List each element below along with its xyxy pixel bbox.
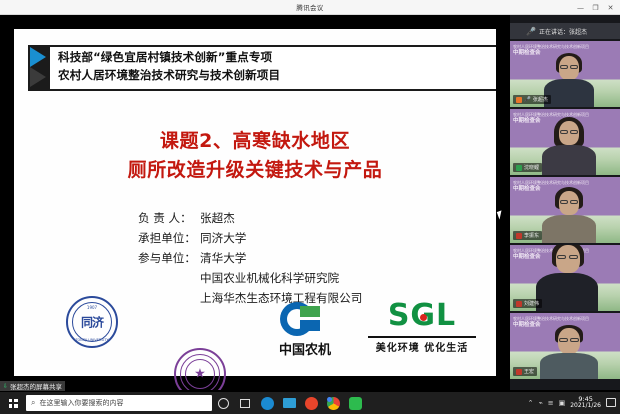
taskbar-clock[interactable]: 9:45 2021/1/26	[570, 396, 601, 410]
info-row: 负 责 人：张超杰	[138, 209, 362, 229]
glasses-icon	[570, 338, 579, 342]
seal-english: TONGJI UNIVERSITY	[75, 338, 108, 342]
chevron-blue-icon	[30, 47, 46, 67]
taskbar-search-input[interactable]: ⌕ 在这里输入你要搜索的内容	[26, 395, 212, 411]
glasses-icon	[570, 65, 578, 69]
info-value: 中国农业机械化科学研究院	[200, 271, 339, 285]
mail-button[interactable]	[278, 392, 300, 414]
shared-screen-stage[interactable]: 科技部“绿色宜居村镇技术创新”重点专项 农村人居环境整治技术研究与技术创新项目 …	[0, 15, 510, 390]
seal-mark: 同济	[81, 314, 103, 331]
header-line-2: 农村人居环境整治技术研究与技术创新项目	[58, 67, 478, 85]
start-button[interactable]	[0, 392, 26, 414]
vb-sub: 中期检查会	[513, 50, 541, 56]
glasses-icon	[570, 130, 578, 134]
glasses-icon	[570, 200, 578, 204]
notifications-icon[interactable]	[606, 398, 616, 407]
presentation-slide: 科技部“绿色宜居村镇技术创新”重点专项 农村人居环境整治技术研究与技术创新项目 …	[14, 29, 496, 376]
slide-title: 课题2、高寒缺水地区 厕所改造升级关键技术与产品	[14, 127, 496, 184]
tray-volume-icon[interactable]: ≡	[548, 399, 554, 407]
participant-name-bar: 王宏	[513, 367, 537, 376]
opera-button[interactable]	[300, 392, 322, 414]
seal-year: 1907	[87, 305, 97, 310]
vb-sub: 中期检查会	[513, 118, 541, 124]
close-button[interactable]: ✕	[603, 0, 618, 15]
avatar-body	[540, 353, 598, 379]
mic-muted-icon	[516, 301, 522, 307]
participant-name: 张超杰	[533, 96, 548, 103]
host-badge-icon	[516, 97, 522, 103]
glasses-icon	[560, 200, 568, 204]
nj-bar-green	[300, 306, 320, 317]
participant-name: 李振东	[524, 232, 539, 239]
slide-header: 科技部“绿色宜居村镇技术创新”重点专项 农村人居环境整治技术研究与技术创新项目	[14, 45, 496, 91]
participant-tile[interactable]: 农村人居环境整治技术研究与技术创新项目 中期检查会 刘建伟	[510, 245, 620, 311]
chrome-icon	[327, 397, 340, 410]
info-value: 同济大学	[200, 231, 246, 245]
sgl-red-dot-icon	[420, 314, 427, 321]
windows-taskbar[interactable]: ⌕ 在这里输入你要搜索的内容 ⌃ ⌁ ≡ ▣ 9:45 2021/1/26	[0, 392, 620, 414]
participant-name-bar: 🎤 张超杰	[513, 95, 551, 104]
participants-rail[interactable]: 🎤 正在讲话：张超杰 农村人居环境整治技术研究与技术创新项目 中期检查会 🎤 张…	[510, 15, 620, 390]
participant-tile[interactable]: 农村人居环境整治技术研究与技术创新项目 中期检查会 沈晓鲤	[510, 109, 620, 175]
cortana-icon	[218, 398, 229, 409]
slide-title-line-1: 课题2、高寒缺水地区	[14, 127, 496, 156]
clock-date: 2021/1/26	[570, 403, 601, 410]
screen-share-label: 张超杰的屏幕共享	[10, 381, 62, 391]
active-speaker-name: 正在讲话：张超杰	[539, 27, 587, 36]
chevron-dark-icon	[30, 67, 46, 87]
header-text: 科技部“绿色宜居村镇技术创新”重点专项 农村人居环境整治技术研究与技术创新项目	[58, 49, 478, 84]
participant-tile[interactable]: 农村人居环境整治技术研究与技术创新项目 中期检查会 🎤 张超杰	[510, 41, 620, 107]
glasses-icon	[560, 130, 568, 134]
search-placeholder: 在这里输入你要搜索的内容	[39, 398, 123, 408]
task-view-button[interactable]	[234, 392, 256, 414]
mail-icon	[283, 398, 296, 408]
window-title: 腾讯会议	[296, 2, 323, 12]
tray-chevron-icon[interactable]: ⌃	[528, 399, 534, 407]
info-row: 参与单位：清华大学	[138, 249, 362, 269]
participant-name-bar: 沈晓鲤	[513, 163, 542, 172]
avatar-body	[542, 215, 596, 243]
participant-tile[interactable]: 农村人居环境整治技术研究与技术创新项目 中期检查会 李振东	[510, 177, 620, 243]
slide-info-block: 负 责 人：张超杰 承担单位：同济大学 参与单位：清华大学 中国农业机械化科学研…	[138, 209, 362, 309]
wechat-icon	[349, 397, 362, 410]
tray-network-icon[interactable]: ⌁	[539, 399, 543, 407]
nj-emblem	[280, 302, 326, 336]
info-label: 负 责 人：	[138, 209, 200, 229]
sgl-logo-icon: SGL 美化环境 优化生活	[362, 300, 482, 358]
seal-star-icon: ★	[194, 367, 206, 382]
glasses-icon	[569, 255, 578, 259]
active-speaker-banner: 🎤 正在讲话：张超杰	[510, 23, 620, 39]
tongji-university-seal-icon: 1907 同济 TONGJI UNIVERSITY	[66, 296, 118, 348]
vb-sub: 中期检查会	[513, 322, 541, 328]
slide-title-line-2: 厕所改造升级关键技术与产品	[14, 156, 496, 185]
minimize-button[interactable]: —	[573, 0, 588, 15]
info-row: 承担单位：同济大学	[138, 229, 362, 249]
participant-tile[interactable]: 农村人居环境整治技术研究与技术创新项目 中期检查会 王宏	[510, 313, 620, 379]
info-value: 清华大学	[200, 251, 246, 265]
cortana-button[interactable]	[212, 392, 234, 414]
window-titlebar: 腾讯会议 — ❐ ✕	[0, 0, 620, 15]
mic-muted-icon	[516, 233, 522, 239]
meeting-app-body: 科技部“绿色宜居村镇技术创新”重点专项 农村人居环境整治技术研究与技术创新项目 …	[0, 15, 620, 390]
participant-name-bar: 李振东	[513, 231, 542, 240]
sgl-divider	[368, 336, 476, 338]
edge-icon	[261, 397, 274, 410]
glasses-icon	[560, 65, 568, 69]
info-label: 参与单位：	[138, 249, 200, 269]
participant-name: 刘建伟	[524, 300, 539, 307]
avatar-body	[542, 145, 596, 175]
share-download-icon: ⇩	[3, 383, 8, 390]
task-view-icon	[240, 399, 250, 408]
tray-battery-icon[interactable]: ▣	[559, 399, 566, 407]
system-tray[interactable]: ⌃ ⌁ ≡ ▣ 9:45 2021/1/26	[528, 396, 620, 410]
windows-logo-icon	[9, 399, 18, 408]
glasses-icon	[559, 338, 568, 342]
vb-sub: 中期检查会	[513, 186, 541, 192]
avatar-body	[536, 273, 598, 311]
avatar-body	[544, 79, 594, 107]
china-agricultural-machinery-logo-icon: 中国农机	[266, 302, 344, 358]
nj-logo-text: 中国农机	[266, 339, 344, 358]
screen-share-indicator: ⇩ 张超杰的屏幕共享	[0, 381, 65, 391]
mouse-cursor-icon	[497, 210, 504, 219]
glasses-icon	[557, 255, 566, 259]
window-controls: — ❐ ✕	[573, 0, 618, 15]
tsinghua-university-seal-icon: ★	[174, 348, 226, 390]
info-row: 中国农业机械化科学研究院	[138, 269, 362, 289]
opera-icon	[305, 397, 318, 410]
avatar-face	[556, 245, 580, 273]
header-line-1: 科技部“绿色宜居村镇技术创新”重点专项	[58, 49, 478, 67]
info-value: 张超杰	[200, 211, 235, 225]
mic-status-icon: 🎤	[524, 97, 531, 103]
microphone-icon: 🎤	[526, 27, 536, 36]
vb-sub: 中期检查会	[513, 254, 541, 260]
mic-active-icon	[516, 165, 522, 171]
sgl-tagline: 美化环境 优化生活	[362, 339, 482, 354]
wechat-button[interactable]	[344, 392, 366, 414]
participant-name-bar: 刘建伟	[513, 299, 542, 308]
participant-name: 王宏	[524, 368, 534, 375]
participant-name: 沈晓鲤	[524, 164, 539, 171]
search-icon: ⌕	[31, 398, 35, 408]
restore-button[interactable]: ❐	[588, 0, 603, 15]
mic-muted-icon	[516, 369, 522, 375]
slide-logo-strip: 1907 同济 TONGJI UNIVERSITY ★ 中国农机	[14, 296, 496, 358]
edge-button[interactable]	[256, 392, 278, 414]
nj-bar-blue	[300, 320, 320, 331]
info-label: 承担单位：	[138, 229, 200, 249]
chrome-button[interactable]	[322, 392, 344, 414]
